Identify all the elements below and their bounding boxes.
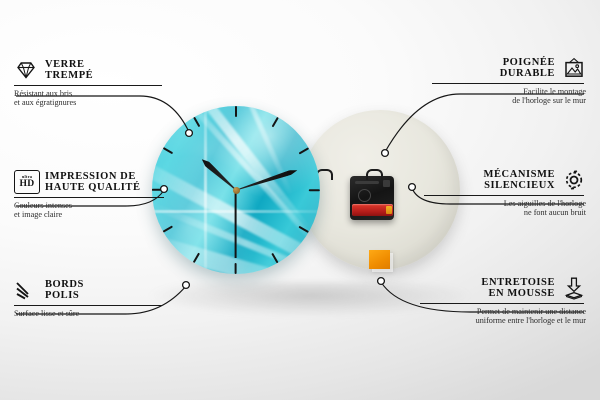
callout-header: ENTRETOISEEN MOUSSE	[420, 276, 586, 300]
callout-title: ENTRETOISEEN MOUSSE	[481, 277, 555, 300]
polished-edges-icon	[14, 278, 38, 302]
callout-header: VERRETREMPÉ	[14, 58, 164, 82]
callout-divider	[14, 305, 162, 306]
gear-icon	[562, 168, 586, 192]
leader-dot	[378, 278, 385, 285]
leader-dot	[183, 282, 190, 289]
infographic-canvas: VERRETREMPÉ Résistant aux briset aux égr…	[0, 0, 600, 400]
leader-dot	[186, 130, 193, 137]
callout-header: POIGNÉEDURABLE	[432, 56, 586, 80]
callout-divider	[420, 303, 584, 304]
callout-description: Surface lisse et sûre	[14, 309, 164, 319]
callout-title: MÉCANISMESILENCIEUX	[484, 169, 555, 192]
wall-hanger-icon	[562, 56, 586, 80]
callout-title: POIGNÉEDURABLE	[500, 57, 555, 80]
callout-divider	[14, 197, 164, 198]
callout-verre-trempe: VERRETREMPÉ Résistant aux briset aux égr…	[14, 58, 164, 108]
callout-description: Couleurs intenseset image claire	[14, 201, 166, 220]
callout-description: Facilite le montagede l'horloge sur le m…	[432, 87, 586, 106]
callout-header: ultra HD IMPRESSION DEHAUTE QUALITÉ	[14, 170, 166, 194]
leader-dot	[409, 184, 416, 191]
foam-spacer-icon	[562, 276, 586, 300]
callout-divider	[424, 195, 584, 196]
callout-header: MÉCANISMESILENCIEUX	[424, 168, 586, 192]
callout-title: IMPRESSION DEHAUTE QUALITÉ	[45, 171, 141, 194]
callout-divider	[432, 83, 584, 84]
leader-dot	[382, 150, 389, 157]
callout-title: VERRETREMPÉ	[45, 59, 93, 82]
callout-impression-haute-qualite: ultra HD IMPRESSION DEHAUTE QUALITÉ Coul…	[14, 170, 166, 220]
callout-header: BORDSPOLIS	[14, 278, 164, 302]
callout-description: Les aiguilles de l'horlogene font aucun …	[424, 199, 586, 218]
callout-bords-polis: BORDSPOLIS Surface lisse et sûre	[14, 278, 164, 318]
callout-entretoise-en-mousse: ENTRETOISEEN MOUSSE Permet de maintenir …	[420, 276, 586, 326]
ultra-hd-icon-main-label: HD	[20, 179, 35, 189]
callout-description: Résistant aux briset aux égratignures	[14, 89, 164, 108]
callout-mecanisme-silencieux: MÉCANISMESILENCIEUX Les aiguilles de l'h…	[424, 168, 586, 218]
callout-poignee-durable: POIGNÉEDURABLE Facilite le montagede l'h…	[432, 56, 586, 106]
ultra-hd-icon: ultra HD	[14, 170, 38, 194]
diamond-icon	[14, 58, 38, 82]
callout-title: BORDSPOLIS	[45, 279, 84, 302]
callout-description: Permet de maintenir une distanceuniforme…	[420, 307, 586, 326]
callout-divider	[14, 85, 162, 86]
